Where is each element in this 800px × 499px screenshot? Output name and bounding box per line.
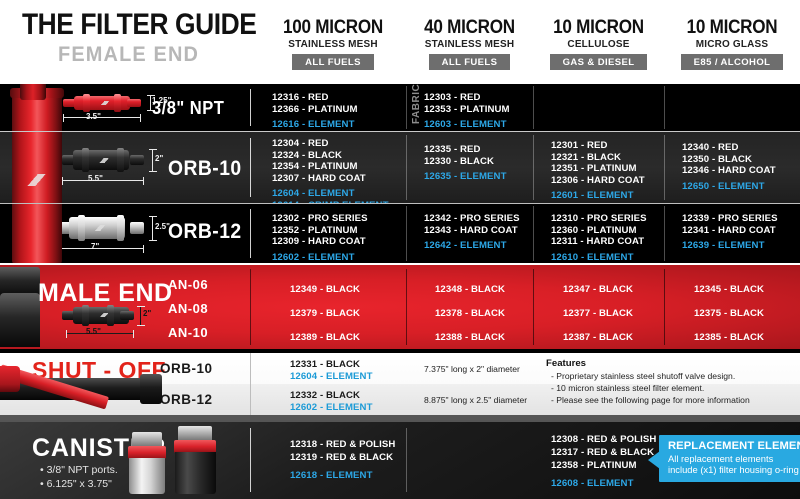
dimension-line-diameter	[140, 306, 141, 326]
feature-item: - Proprietary stainless steel shutoff va…	[551, 371, 735, 381]
section-separator	[0, 415, 800, 422]
divider	[533, 135, 534, 200]
dimension-length-label: 3.5"	[86, 112, 101, 121]
callout-body-line-2: include (x1) filter housing o-ring	[668, 464, 800, 475]
cell-orb10-10micron-cellulose: 12301 - RED 12321 - BLACK 12351 - PLATIN…	[551, 140, 645, 202]
column-header-10-micron-cellulose: 10 MICRON CELLULOSE GAS & DIESEL	[533, 18, 664, 70]
row-label-an-06: AN-06	[168, 277, 208, 292]
row-label-an-10: AN-10	[168, 325, 208, 340]
canister-silver-image	[128, 432, 168, 496]
section-separator	[0, 349, 800, 353]
shutoff-orb12-dimension: 8.875" long x 2.5" diameter	[424, 395, 527, 405]
column-header-40-micron: 40 MICRON STAINLESS MESH ALL FUELS	[406, 18, 533, 70]
cell-38npt-40micron: 12303 - RED 12353 - PLATINUM 12603 - ELE…	[424, 92, 510, 131]
canister-bullets: • 3/8" NPT ports. • 6.125" x 3.75"	[40, 464, 118, 491]
fuel-badge: ALL FUELS	[429, 54, 511, 70]
filter-guide-page: THE FILTER GUIDE FEMALE END 100 MICRON S…	[0, 0, 800, 499]
cell-orb10-10micron-microglass: 12340 - RED 12350 - BLACK 12346 - HARD C…	[682, 142, 776, 192]
filter-38npt-image	[63, 96, 141, 110]
section-canister: CANISTER • 3/8" NPT ports. • 6.125" x 3.…	[0, 422, 800, 499]
row-separator	[0, 131, 800, 132]
replacement-elements-callout: REPLACEMENT ELEMENTS All replacement ele…	[659, 435, 800, 482]
fabric-label: FABRIC	[411, 92, 422, 124]
row-separator	[0, 203, 800, 204]
divider	[406, 206, 407, 261]
cell-orb12-10micron-microglass: 12339 - PRO SERIES 12341 - HARD COAT 126…	[682, 213, 778, 252]
divider	[406, 86, 407, 129]
dimension-length-label: 5.5"	[88, 174, 103, 183]
cell-orb12-10micron-cellulose: 12310 - PRO SERIES 12360 - PLATINUM 1231…	[551, 213, 647, 263]
feature-item: - 10 micron stainless steel filter eleme…	[551, 383, 704, 393]
section-separator	[0, 263, 800, 265]
cell-shutoff-orb12-parts: 12332 - BLACK 12602 - ELEMENT	[290, 390, 373, 413]
column-header-100-micron: 100 MICRON STAINLESS MESH ALL FUELS	[260, 18, 406, 70]
fuel-badge: E85 / ALCOHOL	[681, 54, 784, 70]
fuel-badge: GAS & DIESEL	[550, 54, 648, 70]
dimension-line-diameter	[150, 95, 151, 111]
cell-canister-col3: 12308 - RED & POLISH 12317 - RED & BLACK…	[551, 433, 656, 490]
shutoff-orb10-dimension: 7.375" long x 2" diameter	[424, 364, 520, 374]
dimension-line-length	[62, 180, 144, 181]
fuel-badge: ALL FUELS	[292, 54, 374, 70]
filter-orb12-image	[58, 217, 144, 239]
row-label-orb-12: ORB-12	[168, 220, 242, 244]
divider	[250, 384, 251, 415]
row-label-orb-10: ORB-10	[168, 157, 242, 181]
divider	[250, 269, 251, 345]
dimension-line-diameter	[152, 149, 153, 172]
large-red-canister-image	[4, 66, 66, 266]
dimension-diameter-label: 2"	[155, 154, 163, 163]
dimension-diameter-label: 2"	[143, 309, 151, 318]
cell-canister-col1: 12318 - RED & POLISH 12319 - RED & BLACK…	[290, 438, 395, 482]
divider	[406, 428, 407, 492]
dimension-line-diameter	[152, 216, 153, 241]
cell-male-10micron-microglass: 12345 - BLACK 12375 - BLACK 12385 - BLAC…	[694, 278, 777, 349]
canister-bullet-1: • 3/8" NPT ports.	[40, 464, 118, 478]
male-end-title: MALE END	[38, 279, 173, 308]
cell-orb12-100micron: 12302 - PRO SERIES 12352 - PLATINUM 1230…	[272, 213, 368, 263]
cell-orb12-40micron: 12342 - PRO SERIES 12343 - HARD COAT 126…	[424, 213, 520, 252]
cell-male-100micron: 12349 - BLACK 12379 - BLACK 12389 - BLAC…	[290, 278, 373, 349]
cell-orb10-40micron: 12335 - RED 12330 - BLACK 12635 - ELEMEN…	[424, 144, 507, 183]
dimension-length-label: 5.5"	[86, 327, 101, 336]
dimension-length-label: 7"	[91, 242, 99, 251]
divider	[250, 89, 251, 126]
dimension-line-length	[58, 248, 144, 249]
callout-title: REPLACEMENT ELEMENTS	[668, 440, 800, 452]
features-title: Features	[546, 358, 586, 369]
divider	[406, 135, 407, 200]
row-label-an-08: AN-08	[168, 301, 208, 316]
divider	[406, 269, 407, 345]
divider	[533, 269, 534, 345]
divider	[250, 209, 251, 258]
canister-black-image	[174, 426, 218, 498]
divider	[250, 138, 251, 197]
divider	[250, 353, 251, 384]
female-end-subtitle: FEMALE END	[58, 43, 199, 67]
page-title: THE FILTER GUIDE	[22, 8, 256, 42]
divider	[533, 206, 534, 261]
feature-item: - Please see the following page for more…	[551, 395, 750, 405]
filter-male-end-image	[62, 307, 134, 324]
cell-male-40micron: 12348 - BLACK 12378 - BLACK 12388 - BLAC…	[435, 278, 518, 349]
divider	[664, 269, 665, 345]
row-label-shutoff-orb-10: ORB-10	[160, 361, 213, 376]
cell-male-10micron-cellulose: 12347 - BLACK 12377 - BLACK 12387 - BLAC…	[563, 278, 646, 349]
filter-orb10-image	[62, 150, 144, 170]
canister-bullet-2: • 6.125" x 3.75"	[40, 478, 118, 492]
divider	[250, 428, 251, 492]
cell-shutoff-orb10-parts: 12331 - BLACK 12604 - ELEMENT	[290, 359, 373, 382]
dimension-line-length	[63, 117, 141, 118]
row-38-npt: 3.5" 1.25" 3/8" NPT 12316 - RED 12366 - …	[0, 84, 800, 131]
section-male-end: MALE END 5.5" 2" AN-06 AN-08 AN-10 12349…	[0, 265, 800, 349]
divider	[664, 86, 665, 129]
divider	[664, 135, 665, 200]
page-header: THE FILTER GUIDE FEMALE END 100 MICRON S…	[0, 0, 800, 84]
divider	[533, 86, 534, 129]
row-label-38-npt: 3/8" NPT	[152, 98, 224, 119]
cell-orb10-100micron: 12304 - RED 12324 - BLACK 12354 - PLATIN…	[272, 138, 389, 203]
row-orb-12: 7" 2.5" ORB-12 12302 - PRO SERIES 12352 …	[0, 204, 800, 263]
callout-body-line-1: All replacement elements	[668, 453, 800, 464]
row-orb-10: 5.5" 2" ORB-10 12304 - RED 12324 - BLACK…	[0, 132, 800, 203]
shutoff-valve-image	[0, 356, 166, 414]
row-label-shutoff-orb-12: ORB-12	[160, 392, 213, 407]
cell-38npt-100micron: 12316 - RED 12366 - PLATINUM 12616 - ELE…	[272, 92, 358, 131]
column-header-10-micron-micro-glass: 10 MICRON MICRO GLASS E85 / ALCOHOL	[664, 18, 800, 70]
divider	[664, 206, 665, 261]
